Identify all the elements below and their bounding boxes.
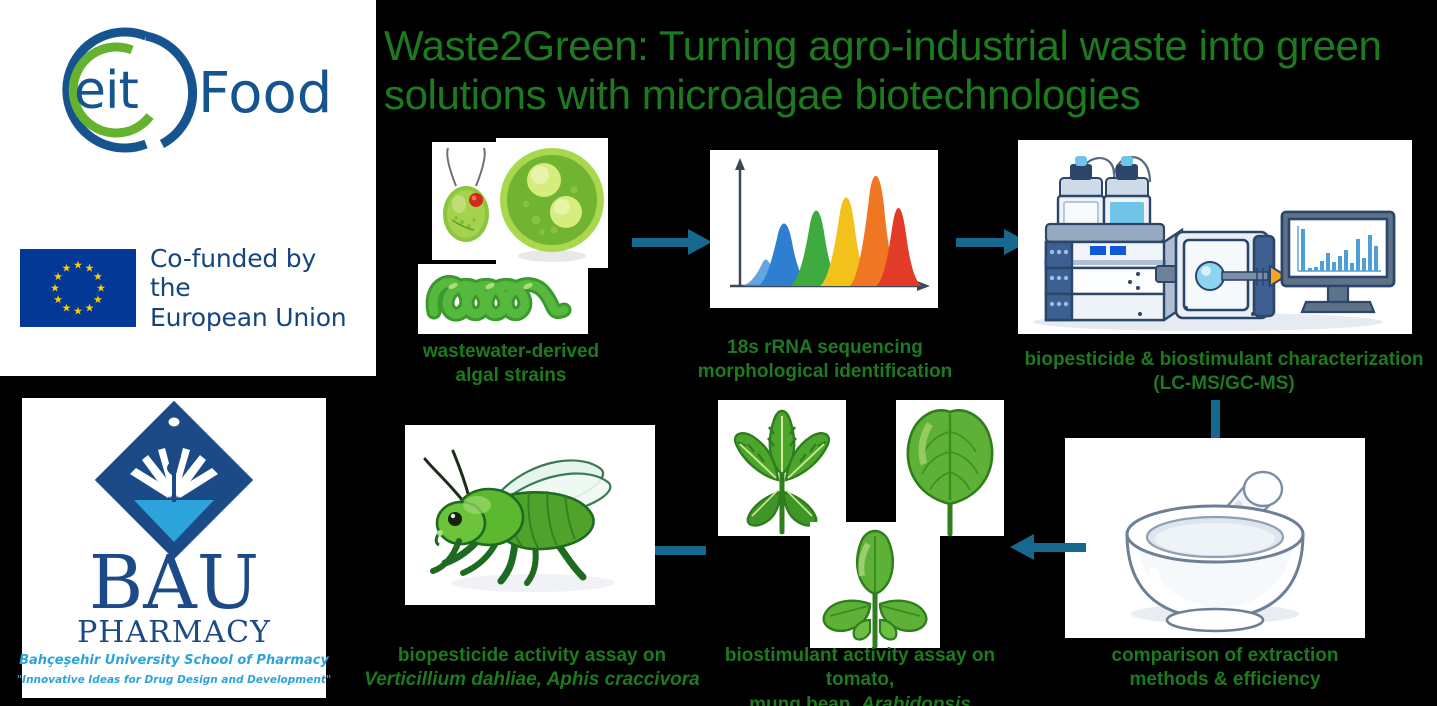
svg-text:eit: eit bbox=[74, 61, 138, 121]
eu-cofunded-text: Co-funded by the European Union bbox=[150, 244, 364, 333]
page-title: Waste2Green: Turning agro-industrial was… bbox=[384, 22, 1434, 119]
panel-chromatogram bbox=[710, 150, 938, 308]
eu-line-2: European Union bbox=[150, 303, 364, 333]
caption-identification-line2: morphological identification bbox=[690, 360, 960, 384]
caption-biopesticide-line1: biopesticide activity assay on bbox=[352, 644, 712, 668]
bau-acronym: BAU bbox=[89, 540, 259, 626]
mungbean-leaf bbox=[896, 400, 1004, 536]
tomato-leaf bbox=[718, 400, 846, 536]
eit-food-logo: eit Food bbox=[28, 20, 358, 160]
panel-spirulina bbox=[418, 264, 588, 334]
spirulina-filament bbox=[418, 264, 588, 334]
panel-aphid bbox=[405, 425, 655, 605]
panel-mungbean-leaf bbox=[896, 400, 1004, 536]
chlamydomonas-cell bbox=[432, 142, 504, 260]
bau-pharmacy-logo: BAU PHARMACY Bahçeşehir University Schoo… bbox=[22, 398, 326, 698]
panel-arabidopsis-leaf bbox=[810, 522, 940, 648]
caption-biopesticide-species: Verticillium dahliae, Aphis craccivora bbox=[364, 669, 699, 690]
caption-biopesticide: biopesticide activity assay on Verticill… bbox=[352, 644, 712, 693]
panel-tomato-leaf bbox=[718, 400, 846, 536]
caption-biostimulant-plants: mung bean, bbox=[749, 694, 861, 706]
graphical-abstract: eit Food bbox=[0, 0, 1437, 706]
panel-chlamydomonas bbox=[432, 142, 504, 260]
caption-characterization-line2: (LC-MS/GC-MS) bbox=[1014, 372, 1434, 396]
bau-department: PHARMACY bbox=[77, 615, 271, 650]
caption-biostimulant-species: Arabidopsis bbox=[861, 694, 971, 706]
caption-identification: 18s rRNA sequencing morphological identi… bbox=[690, 336, 960, 385]
arrow-extraction-to-biostimulant bbox=[1010, 543, 1086, 552]
panel-mortar-pestle bbox=[1065, 438, 1365, 638]
eu-line-1: Co-funded by the bbox=[150, 244, 364, 303]
caption-algal-strains-line1: wastewater-derived bbox=[396, 340, 626, 364]
caption-biostimulant-line2: mung bean, Arabidopsis bbox=[690, 693, 1030, 706]
svg-text:Food: Food bbox=[198, 61, 332, 126]
aphid-insect bbox=[405, 425, 655, 605]
bau-institution: Bahçeşehir University School of Pharmacy bbox=[19, 653, 329, 668]
mortar-and-pestle bbox=[1065, 438, 1365, 638]
chlorella-cell bbox=[496, 138, 608, 268]
caption-extraction-line2: methods & efficiency bbox=[1080, 668, 1370, 692]
caption-algal-strains: wastewater-derived algal strains bbox=[396, 340, 626, 389]
caption-identification-line1: 18s rRNA sequencing bbox=[690, 336, 960, 360]
eu-flag-icon bbox=[20, 249, 136, 327]
arrow-strains-to-identification bbox=[632, 238, 712, 247]
chromatogram-plot bbox=[710, 150, 938, 308]
caption-biopesticide-line2: Verticillium dahliae, Aphis craccivora bbox=[352, 668, 712, 692]
caption-algal-strains-line2: algal strains bbox=[396, 364, 626, 388]
caption-biostimulant-line1: biostimulant activity assay on tomato, bbox=[690, 644, 1030, 693]
funder-logos-panel: eit Food bbox=[0, 0, 376, 376]
caption-biostimulant: biostimulant activity assay on tomato, m… bbox=[690, 644, 1030, 706]
lcms-instrument bbox=[1018, 140, 1412, 334]
caption-characterization-line1: biopesticide & biostimulant characteriza… bbox=[1014, 348, 1434, 372]
bau-tagline: "Innovative Ideas for Drug Design and De… bbox=[17, 674, 332, 686]
caption-characterization: biopesticide & biostimulant characteriza… bbox=[1014, 348, 1434, 397]
caption-extraction-line1: comparison of extraction bbox=[1080, 644, 1370, 668]
panel-lcms-instrument bbox=[1018, 140, 1412, 334]
eu-cofunded-logo: Co-funded by the European Union bbox=[20, 248, 364, 328]
panel-chlorella bbox=[496, 138, 608, 268]
caption-extraction: comparison of extraction methods & effic… bbox=[1080, 644, 1370, 693]
bau-pharmacy-logo-panel: BAU PHARMACY Bahçeşehir University Schoo… bbox=[22, 398, 326, 698]
arabidopsis-leaf bbox=[810, 522, 940, 648]
